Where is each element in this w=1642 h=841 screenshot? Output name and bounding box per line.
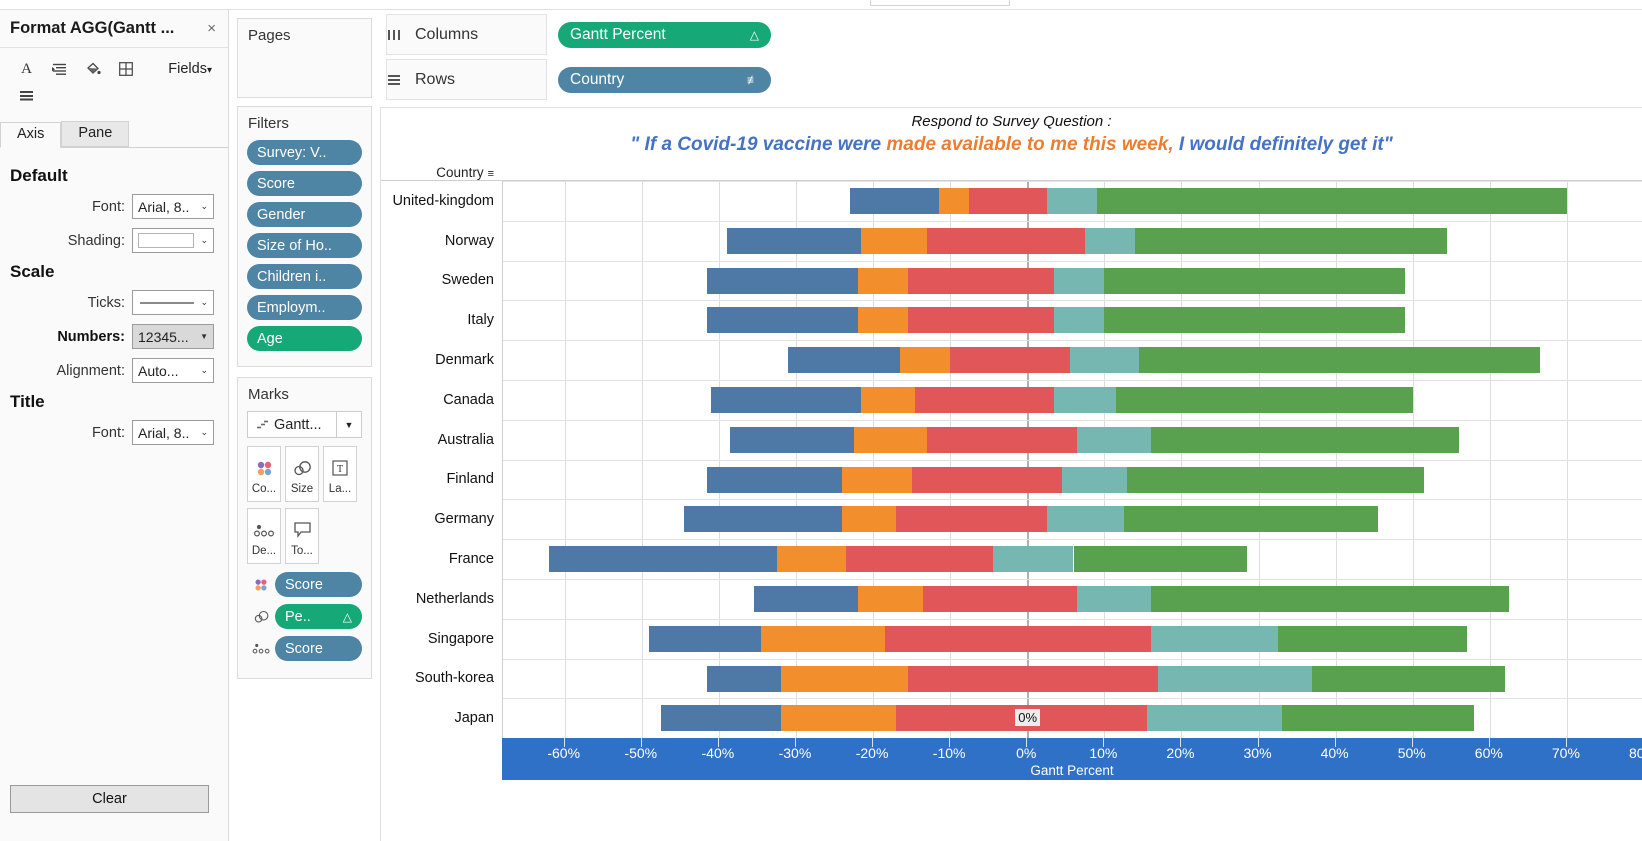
pages-card-title: Pages <box>238 19 371 52</box>
bar-segment[interactable] <box>711 387 861 413</box>
bar-segment[interactable] <box>1312 666 1505 692</box>
bar-segment[interactable] <box>1135 228 1447 254</box>
mark-type-select[interactable]: Gantt... ▼ <box>247 411 362 438</box>
row-label: Australia <box>381 420 502 460</box>
marks-detail-caption: De... <box>252 545 276 557</box>
bar-segment[interactable] <box>661 705 780 731</box>
bar-segment[interactable] <box>858 268 908 294</box>
format-panel: Format AGG(Gantt ... × A <box>0 10 229 841</box>
bar-segment[interactable] <box>1077 586 1150 612</box>
bar-segment[interactable] <box>781 705 897 731</box>
bar-segment[interactable] <box>927 228 1004 254</box>
filters-card: Filters Survey: V.. Score Gender Size of… <box>237 106 372 367</box>
bar-segment[interactable] <box>846 546 919 572</box>
row-scale-numbers: Numbers: 12345... ▼ <box>10 324 214 349</box>
bar-segment[interactable] <box>912 467 985 493</box>
axis-tick-label: -30% <box>779 745 812 761</box>
filter-pill-size-of-household[interactable]: Size of Ho.. <box>247 233 362 258</box>
bar-segment[interactable] <box>727 228 862 254</box>
country-header-label: Country <box>436 165 483 180</box>
bar-segment[interactable] <box>977 307 1054 333</box>
bar-segment[interactable] <box>707 666 780 692</box>
bar-segment[interactable] <box>1085 228 1135 254</box>
bar-segment[interactable] <box>1070 347 1139 373</box>
chevron-down-icon: ⌄ <box>200 365 208 376</box>
bar-segment[interactable] <box>761 626 884 652</box>
bar-segment[interactable] <box>1054 307 1104 333</box>
marks-row-size: Pe.. △ <box>247 604 362 629</box>
format-toolbar: A Fields▾ <box>0 48 228 110</box>
row-label: Italy <box>381 300 502 340</box>
bar-segment[interactable] <box>885 626 1020 652</box>
delta-icon: △ <box>750 28 759 42</box>
bar-segment[interactable] <box>919 546 992 572</box>
rows-shelf-label: Rows <box>386 59 547 100</box>
bar-segment[interactable] <box>549 546 776 572</box>
bar-segment[interactable] <box>1047 188 1097 214</box>
filter-pill-children[interactable]: Children i.. <box>247 264 362 289</box>
chevron-down-icon: ⌄ <box>200 297 208 308</box>
row-label: South-korea <box>381 659 502 699</box>
bar-segment[interactable] <box>850 188 939 214</box>
marks-row-color: Score <box>247 572 362 597</box>
axis-tick-label: 0% <box>1016 745 1036 761</box>
bar-segment[interactable] <box>927 427 996 453</box>
axis-tick-label: 10% <box>1089 745 1117 761</box>
bar-segment[interactable] <box>1074 546 1247 572</box>
bar-segment[interactable] <box>854 427 927 453</box>
chart-title-part-2: made available to me this week, <box>886 134 1173 155</box>
axis-tick-label: -60% <box>547 745 580 761</box>
bar-segment[interactable] <box>1008 188 1047 214</box>
axis-tick-label: -40% <box>702 745 735 761</box>
color-icon <box>256 453 273 483</box>
row-label: Denmark <box>381 340 502 380</box>
bar-segment[interactable] <box>1151 586 1509 612</box>
bar-segment[interactable] <box>861 387 915 413</box>
bar-segment[interactable] <box>923 586 996 612</box>
scale-ticks-select[interactable]: ⌄ <box>132 290 214 315</box>
mark-buttons-row1: Co... Size T La... <box>247 446 362 502</box>
bar-row[interactable] <box>503 261 1642 301</box>
bar-row[interactable] <box>503 539 1642 579</box>
column-header-row: Country ≡ <box>381 156 1642 180</box>
columns-field-pill[interactable]: Gantt Percent △ <box>558 22 771 48</box>
mark-buttons-row2: De... To... <box>247 508 362 564</box>
bar-segment[interactable] <box>1124 506 1378 532</box>
bar-segment[interactable] <box>977 268 1054 294</box>
fields-menu[interactable]: Fields▾ <box>168 61 218 77</box>
bar-segment[interactable] <box>908 307 977 333</box>
chart-title-part-1: " If a Covid-19 vaccine were <box>630 134 886 155</box>
axis-tick-label: 30% <box>1244 745 1272 761</box>
bar-segment[interactable] <box>1151 427 1459 453</box>
label-default-shading: Shading: <box>68 233 125 249</box>
marks-row-detail: Score <box>247 636 362 661</box>
bar-segment[interactable] <box>1077 427 1150 453</box>
bar-segment[interactable] <box>730 427 853 453</box>
bar-row[interactable] <box>503 300 1642 340</box>
bar-segment[interactable] <box>707 307 857 333</box>
label-scale-numbers: Numbers: <box>57 329 125 345</box>
marks-pill-detail-score[interactable]: Score <box>275 636 362 661</box>
top-strip <box>0 0 1642 10</box>
sort-icon: ≢ <box>747 73 759 87</box>
marks-color-caption: Co... <box>252 483 276 495</box>
bar-row[interactable] <box>503 380 1642 420</box>
close-icon[interactable]: × <box>203 20 220 37</box>
marks-pill-color-label: Score <box>285 577 323 593</box>
marks-size-button[interactable]: Size <box>285 446 319 502</box>
borders-icon[interactable] <box>109 56 142 82</box>
chevron-down-icon: ⌄ <box>200 235 208 246</box>
marks-label-caption: La... <box>329 483 351 495</box>
chevron-down-icon: ⌄ <box>200 201 208 212</box>
bar-segment[interactable] <box>985 467 1062 493</box>
size-icon <box>293 453 312 483</box>
bar-segment[interactable] <box>996 427 1077 453</box>
tooltip-icon <box>294 515 311 545</box>
color-icon <box>247 578 275 592</box>
row-label: Singapore <box>381 619 502 659</box>
bar-row[interactable] <box>503 460 1642 500</box>
pages-card: Pages <box>237 18 372 98</box>
columns-shelf[interactable]: Columns Gantt Percent △ <box>386 14 1642 55</box>
scale-alignment-value: Auto... <box>138 363 178 379</box>
size-icon <box>247 610 275 624</box>
bar-segment[interactable] <box>915 387 981 413</box>
bar-segment[interactable] <box>1278 626 1467 652</box>
scale-alignment-select[interactable]: Auto... ⌄ <box>132 358 214 383</box>
marks-tooltip-caption: To... <box>291 545 313 557</box>
bar-segment[interactable] <box>1158 666 1312 692</box>
section-scale: Scale <box>10 262 214 282</box>
chart-title-line1: Respond to Survey Question : <box>381 113 1642 130</box>
format-panel-title: Format AGG(Gantt ... <box>10 19 203 38</box>
bar-row[interactable] <box>503 579 1642 619</box>
label-icon: T <box>332 453 348 483</box>
bar-segment[interactable] <box>1116 387 1413 413</box>
country-header[interactable]: Country ≡ <box>381 156 502 180</box>
rows-icon <box>387 74 415 86</box>
row-label: Germany <box>381 499 502 539</box>
lines-icon[interactable] <box>10 82 43 108</box>
chart-title-part-3: I would definitely get it" <box>1174 134 1393 155</box>
bar-segment[interactable] <box>781 666 908 692</box>
bar-segment[interactable] <box>969 506 1046 532</box>
tab-pane[interactable]: Pane <box>61 121 129 147</box>
axis-tick-label: 60% <box>1475 745 1503 761</box>
bar-row[interactable]: 0% <box>503 698 1642 738</box>
marks-color-button[interactable]: Co... <box>247 446 281 502</box>
x-axis[interactable]: Gantt Percent -60%-50%-40%-30%-20%-10%0%… <box>502 738 1642 780</box>
bar-segment[interactable] <box>1047 506 1124 532</box>
clear-button[interactable]: Clear <box>10 785 209 813</box>
filters-card-title: Filters <box>238 107 371 140</box>
bar-segment[interactable] <box>908 268 977 294</box>
bar-segment[interactable] <box>1147 705 1282 731</box>
bar-segment[interactable] <box>900 347 950 373</box>
marks-pill-color-score[interactable]: Score <box>275 572 362 597</box>
columns-icon <box>387 29 415 41</box>
rows-shelf-text: Rows <box>415 71 455 89</box>
axis-tick-label: 40% <box>1321 745 1349 761</box>
paint-bucket-icon[interactable] <box>76 56 109 82</box>
section-title: Title <box>10 392 214 412</box>
bar-segment[interactable] <box>1004 228 1085 254</box>
shading-swatch <box>138 233 194 248</box>
label-scale-alignment: Alignment: <box>56 363 125 379</box>
bar-segment[interactable] <box>1104 268 1405 294</box>
row-label-column: United-kingdomNorwaySwedenItalyDenmarkCa… <box>381 181 502 738</box>
bar-row[interactable] <box>503 619 1642 659</box>
default-font-value: Arial, 8.. <box>138 199 189 215</box>
row-label: Netherlands <box>381 579 502 619</box>
bar-segment[interactable] <box>950 347 1008 373</box>
filter-pill-gender[interactable]: Gender <box>247 202 362 227</box>
panel-nub <box>870 0 1010 6</box>
bar-segment[interactable] <box>858 586 924 612</box>
title-font-select[interactable]: Arial, 8.. ⌄ <box>132 420 214 445</box>
tab-axis[interactable]: Axis <box>0 122 61 148</box>
bar-segment[interactable] <box>1139 347 1540 373</box>
row-label: Japan <box>381 698 502 738</box>
zero-value-label: 0% <box>1015 709 1040 726</box>
bar-row[interactable] <box>503 340 1642 380</box>
marks-pill-size-label: Pe.. <box>285 609 311 625</box>
bar-segment[interactable] <box>777 546 846 572</box>
gantt-icon <box>248 419 269 430</box>
tick-line-preview <box>140 302 194 304</box>
svg-text:T: T <box>337 464 343 475</box>
row-label: Sweden <box>381 261 502 301</box>
marks-detail-button[interactable]: De... <box>247 508 281 564</box>
chevron-down-icon: ▼ <box>200 332 208 341</box>
cards-column: Pages Filters Survey: V.. Score Gender S… <box>229 10 380 841</box>
rows-shelf[interactable]: Rows Country ≢ <box>386 59 1642 100</box>
row-label: France <box>381 539 502 579</box>
bar-segment[interactable] <box>969 188 1008 214</box>
bar-segment[interactable] <box>908 666 1031 692</box>
filter-pill-employment[interactable]: Employm.. <box>247 295 362 320</box>
axis-tick-label: -50% <box>624 745 657 761</box>
filter-pill-age[interactable]: Age <box>247 326 362 351</box>
row-label: Norway <box>381 221 502 261</box>
chart-title-line2: " If a Covid-19 vaccine were made availa… <box>381 134 1642 156</box>
rows-field-label: Country <box>570 71 624 89</box>
bar-segment[interactable] <box>996 586 1077 612</box>
marks-size-caption: Size <box>291 483 313 495</box>
bar-row[interactable] <box>503 499 1642 539</box>
bar-segment[interactable] <box>1054 268 1104 294</box>
fields-label: Fields <box>168 61 207 77</box>
columns-field-label: Gantt Percent <box>570 26 666 44</box>
format-panel-header: Format AGG(Gantt ... × <box>0 10 228 48</box>
align-icon[interactable] <box>43 56 76 82</box>
bar-segment[interactable] <box>858 307 908 333</box>
bar-segment[interactable] <box>1031 666 1158 692</box>
bar-row[interactable] <box>503 221 1642 261</box>
bar-segment[interactable] <box>684 506 842 532</box>
bar-row[interactable] <box>503 420 1642 460</box>
filter-pill-score[interactable]: Score <box>247 171 362 196</box>
plot-canvas: 0% <box>502 181 1642 738</box>
chevron-down-icon: ⌄ <box>200 427 208 438</box>
bar-row[interactable] <box>503 181 1642 221</box>
default-font-select[interactable]: Arial, 8.. ⌄ <box>132 194 214 219</box>
marks-card: Marks Gantt... ▼ Co... <box>237 377 372 679</box>
columns-shelf-label: Columns <box>386 14 547 55</box>
label-scale-ticks: Ticks: <box>88 295 125 311</box>
section-default: Default <box>10 166 214 186</box>
bar-segment[interactable] <box>1127 467 1424 493</box>
row-default-shading: Shading: ⌄ <box>10 228 214 253</box>
axis-tick-label: -10% <box>933 745 966 761</box>
row-default-font: Font: Arial, 8.. ⌄ <box>10 194 214 219</box>
visualization: Respond to Survey Question : " If a Covi… <box>380 107 1642 841</box>
row-title-font: Font: Arial, 8.. ⌄ <box>10 420 214 445</box>
title-font-value: Arial, 8.. <box>138 425 189 441</box>
bar-segment[interactable] <box>896 506 969 532</box>
columns-shelf-text: Columns <box>415 26 478 44</box>
bar-segment[interactable] <box>1008 347 1070 373</box>
row-label: United-kingdom <box>381 181 502 221</box>
bar-segment[interactable] <box>1104 307 1405 333</box>
mark-type-label: Gantt... <box>269 417 336 433</box>
axis-tick-label: 20% <box>1166 745 1194 761</box>
label-default-font: Font: <box>92 199 125 215</box>
row-scale-ticks: Ticks: ⌄ <box>10 290 214 315</box>
label-title-font: Font: <box>92 425 125 441</box>
format-body: Default Font: Arial, 8.. ⌄ Shading: ⌄ Sc… <box>0 148 228 445</box>
bar-segment[interactable] <box>939 188 970 214</box>
x-axis-title: Gantt Percent <box>502 763 1642 778</box>
axis-tick-label: 50% <box>1398 745 1426 761</box>
axis-tick-label: -20% <box>856 745 889 761</box>
marks-tooltip-button[interactable]: To... <box>285 508 319 564</box>
bar-segment[interactable] <box>842 506 896 532</box>
bar-row[interactable] <box>503 659 1642 699</box>
font-icon[interactable]: A <box>10 56 43 82</box>
row-label: Canada <box>381 380 502 420</box>
plot-area: United-kingdomNorwaySwedenItalyDenmarkCa… <box>381 180 1642 738</box>
bar-segment[interactable] <box>1020 626 1151 652</box>
bar-segment[interactable] <box>649 626 761 652</box>
marks-pill-detail-label: Score <box>285 641 323 657</box>
chevron-down-icon: ▼ <box>336 412 361 437</box>
axis-tick-label: 70% <box>1552 745 1580 761</box>
sort-icon[interactable]: ≡ <box>488 168 494 180</box>
format-tabs: Axis Pane <box>0 120 228 148</box>
delta-icon: △ <box>343 610 352 624</box>
rows-field-pill[interactable]: Country ≢ <box>558 67 771 93</box>
shelves: Columns Gantt Percent △ Rows Country ≢ <box>380 10 1642 107</box>
row-label: Finland <box>381 460 502 500</box>
marks-pill-size-percent[interactable]: Pe.. △ <box>275 604 362 629</box>
marks-label-button[interactable]: T La... <box>323 446 357 502</box>
bar-segment[interactable] <box>981 387 1054 413</box>
detail-icon <box>254 515 275 545</box>
detail-icon <box>247 642 275 655</box>
bar-segment[interactable] <box>754 586 858 612</box>
bar-segment[interactable] <box>707 467 842 493</box>
bar-segment[interactable] <box>896 705 1015 731</box>
bar-segment[interactable] <box>993 546 1074 572</box>
bar-segment[interactable] <box>707 268 857 294</box>
bar-segment[interactable] <box>861 228 927 254</box>
bar-segment[interactable] <box>1097 188 1567 214</box>
chevron-down-icon: ▾ <box>207 65 212 76</box>
marks-field-rows: Score Pe.. △ Score <box>247 572 362 661</box>
bar-segment[interactable] <box>1151 626 1278 652</box>
axis-tick-label: 80% <box>1629 745 1642 761</box>
bar-segment[interactable] <box>1282 705 1475 731</box>
default-shading-select[interactable]: ⌄ <box>132 228 214 253</box>
row-scale-alignment: Alignment: Auto... ⌄ <box>10 358 214 383</box>
bar-segment[interactable] <box>1054 387 1116 413</box>
bar-segment[interactable] <box>788 347 900 373</box>
bar-segment[interactable] <box>842 467 911 493</box>
marks-card-title: Marks <box>238 378 371 411</box>
scale-numbers-value: 12345... <box>138 329 189 345</box>
filter-pill-survey[interactable]: Survey: V.. <box>247 140 362 165</box>
bar-segment[interactable] <box>1062 467 1128 493</box>
scale-numbers-select[interactable]: 12345... ▼ <box>132 324 214 349</box>
chart-title: Respond to Survey Question : " If a Covi… <box>381 108 1642 156</box>
